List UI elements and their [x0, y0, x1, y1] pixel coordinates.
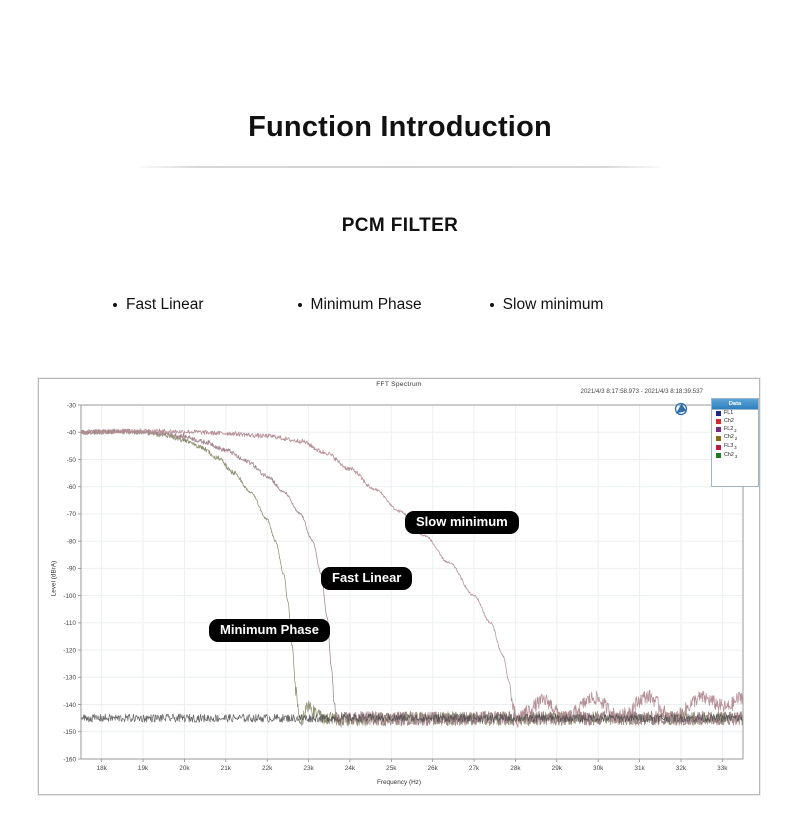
svg-text:25k: 25k: [386, 765, 397, 772]
legend-item[interactable]: Ch23: [712, 452, 758, 461]
annotation-fast-linear: Fast Linear: [321, 567, 412, 590]
legend-item[interactable]: Ch2: [712, 418, 758, 426]
bullet-dot-icon: [298, 303, 302, 307]
legend-item-label: Ch2: [724, 419, 734, 424]
annotation-minimum-phase: Minimum Phase: [209, 619, 330, 642]
svg-text:-130: -130: [63, 675, 76, 682]
legend-item-label: FL1: [724, 411, 733, 416]
chart-legend[interactable]: Data FL1Ch2FL22Ch22FL33Ch23: [711, 398, 759, 487]
legend-color-swatch: [716, 411, 721, 416]
list-item: Minimum Phase: [298, 296, 422, 314]
legend-item-label: Ch22: [724, 435, 737, 441]
svg-text:-90: -90: [67, 566, 77, 573]
svg-text:31k: 31k: [634, 765, 645, 772]
legend-item-label: FL22: [724, 427, 737, 433]
ap-logo-icon: [673, 401, 689, 417]
svg-text:-40: -40: [67, 430, 77, 437]
svg-text:33k: 33k: [717, 765, 728, 772]
legend-color-swatch: [716, 445, 721, 450]
svg-text:20k: 20k: [179, 765, 190, 772]
svg-text:-60: -60: [67, 484, 77, 491]
svg-text:23k: 23k: [303, 765, 314, 772]
legend-color-swatch: [716, 436, 721, 441]
legend-item[interactable]: Ch22: [712, 434, 758, 443]
svg-text:28k: 28k: [510, 765, 521, 772]
svg-text:-50: -50: [67, 457, 77, 464]
filter-mode-label: Fast Linear: [126, 296, 204, 313]
fft-spectrum-chart: FFT Spectrum 2021/4/3 8:17:58.973 - 2021…: [38, 378, 760, 795]
svg-text:30k: 30k: [593, 765, 604, 772]
legend-header: Data: [712, 399, 758, 410]
svg-text:18k: 18k: [97, 765, 108, 772]
svg-text:-150: -150: [63, 729, 76, 736]
filter-mode-list: Fast Linear Minimum Phase Slow minimum: [0, 237, 800, 314]
legend-item-label: FL33: [724, 444, 737, 450]
legend-item[interactable]: FL22: [712, 426, 758, 435]
bullet-dot-icon: [490, 303, 494, 307]
legend-item[interactable]: FL33: [712, 443, 758, 452]
svg-text:-70: -70: [67, 511, 77, 518]
svg-text:26k: 26k: [428, 765, 439, 772]
svg-text:24k: 24k: [345, 765, 356, 772]
x-axis-label: Frequency (Hz): [39, 779, 759, 786]
list-item: Fast Linear: [113, 296, 204, 314]
y-axis-label: Level (dBrA): [51, 534, 58, 624]
svg-text:-30: -30: [67, 402, 77, 409]
svg-text:27k: 27k: [469, 765, 480, 772]
svg-text:21k: 21k: [221, 765, 232, 772]
svg-text:-100: -100: [63, 593, 76, 600]
svg-text:-110: -110: [64, 620, 77, 627]
bullet-dot-icon: [113, 303, 117, 307]
legend-color-swatch: [716, 427, 721, 432]
chart-title: FFT Spectrum: [39, 381, 759, 388]
annotation-slow-minimum: Slow minimum: [405, 511, 519, 534]
legend-color-swatch: [716, 419, 721, 424]
page-title: Function Introduction: [0, 0, 800, 144]
filter-mode-label: Minimum Phase: [311, 296, 422, 313]
svg-text:29k: 29k: [552, 765, 563, 772]
legend-item[interactable]: FL1: [712, 410, 758, 418]
svg-text:32k: 32k: [676, 765, 687, 772]
chart-timestamp: 2021/4/3 8:17:58.973 - 2021/4/3 8:18:39.…: [581, 388, 703, 395]
svg-text:-120: -120: [63, 647, 76, 654]
filter-mode-label: Slow minimum: [503, 296, 604, 313]
svg-text:-80: -80: [67, 538, 77, 545]
legend-item-label: Ch23: [724, 453, 737, 459]
svg-text:-140: -140: [63, 702, 76, 709]
section-subtitle: PCM FILTER: [0, 168, 800, 237]
legend-color-swatch: [716, 453, 721, 458]
svg-text:22k: 22k: [262, 765, 273, 772]
svg-text:-160: -160: [63, 756, 76, 763]
svg-text:19k: 19k: [138, 765, 149, 772]
list-item: Slow minimum: [490, 296, 604, 314]
